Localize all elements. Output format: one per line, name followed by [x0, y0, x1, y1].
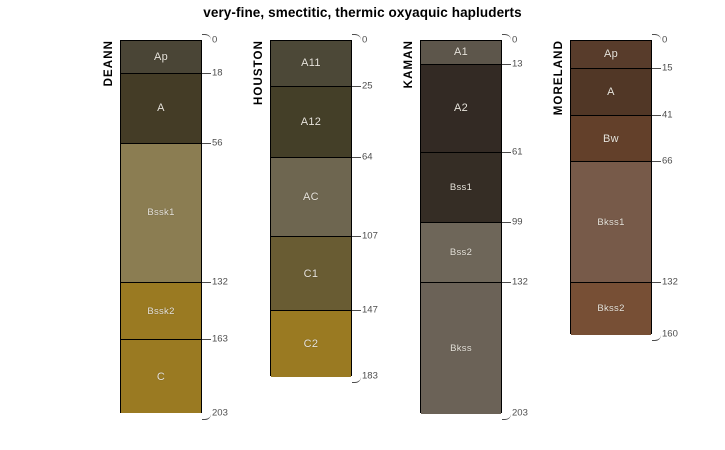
depth-tick-label: 0 [212, 35, 217, 46]
depth-tick-label: 25 [362, 80, 373, 91]
horizon-label: Bssk1 [147, 207, 174, 218]
horizon-label: C1 [304, 268, 319, 280]
depth-tick [502, 222, 511, 223]
pedon-name-label: MORELAND [553, 40, 565, 115]
horizon-label: Ap [154, 51, 168, 63]
horizon-label: Bw [603, 133, 619, 145]
depth-tick [652, 334, 661, 341]
depth-tick [202, 143, 211, 144]
depth-tick-label: 0 [662, 35, 667, 46]
horizon-label: A [157, 102, 165, 114]
depth-tick-label: 203 [512, 407, 528, 418]
horizon-block[interactable]: A [571, 69, 651, 117]
depth-tick-label: 107 [362, 231, 378, 242]
depth-tick [502, 282, 511, 283]
depth-tick-label: 183 [362, 370, 378, 381]
depth-tick [502, 64, 511, 65]
depth-tick [352, 376, 361, 383]
pedon-name-label: DEANN [103, 40, 115, 86]
horizon-label: Bss1 [450, 182, 472, 193]
depth-tick [652, 68, 661, 69]
depth-tick-label: 15 [662, 62, 673, 73]
depth-tick-label: 147 [362, 304, 378, 315]
horizon-block[interactable]: A11 [271, 41, 351, 87]
depth-tick-label: 0 [512, 35, 517, 46]
horizon-label: AC [303, 191, 319, 203]
horizon-column: A11A12ACC1C2 [270, 40, 352, 376]
depth-tick-label: 13 [512, 58, 523, 69]
horizon-block[interactable]: Bkss [421, 283, 501, 413]
horizon-block[interactable]: C [121, 340, 201, 413]
horizon-block[interactable]: A12 [271, 87, 351, 159]
horizon-label: C2 [304, 338, 319, 350]
horizon-label: Bss2 [450, 247, 472, 258]
depth-tick [502, 413, 511, 420]
depth-tick [352, 157, 361, 158]
depth-tick [202, 413, 211, 420]
depth-tick [502, 34, 511, 41]
horizon-label: A11 [301, 57, 321, 69]
horizon-block[interactable]: C2 [271, 311, 351, 377]
horizon-block[interactable]: Ap [121, 41, 201, 74]
soil-profile-plot: very-fine, smectitic, thermic oxyaquic h… [0, 0, 725, 450]
depth-tick-label: 160 [662, 328, 678, 339]
horizon-column: A1A2Bss1Bss2Bkss [420, 40, 502, 413]
horizon-block[interactable]: Bw [571, 116, 651, 162]
depth-tick [652, 282, 661, 283]
depth-tick [202, 282, 211, 283]
depth-tick-label: 18 [212, 68, 223, 79]
horizon-label: A1 [454, 46, 468, 58]
depth-tick-label: 203 [212, 407, 228, 418]
horizon-label: C [157, 371, 165, 383]
depth-tick [652, 161, 661, 162]
depth-tick-label: 64 [362, 152, 373, 163]
depth-axis: 0154166132160 [652, 0, 712, 450]
horizon-block[interactable]: C1 [271, 237, 351, 310]
depth-tick [352, 236, 361, 237]
depth-tick [202, 339, 211, 340]
depth-tick [652, 34, 661, 41]
depth-tick-label: 56 [212, 137, 223, 148]
horizon-column: ApABssk1Bssk2C [120, 40, 202, 413]
horizon-block[interactable]: A1 [421, 41, 501, 65]
pedon-name-label: KAMAN [403, 40, 415, 88]
depth-tick-label: 61 [512, 146, 523, 157]
horizon-block[interactable]: Bssk2 [121, 283, 201, 340]
horizon-block[interactable]: Ap [571, 41, 651, 69]
horizon-block[interactable]: Bss1 [421, 153, 501, 223]
depth-tick-label: 132 [212, 277, 228, 288]
horizon-column: ApABwBkss1Bkss2 [570, 40, 652, 334]
horizon-block[interactable]: Bkss2 [571, 283, 651, 334]
horizon-label: A [607, 86, 615, 98]
horizon-label: A12 [301, 116, 321, 128]
depth-tick [502, 152, 511, 153]
depth-tick-label: 132 [512, 277, 528, 288]
depth-tick [352, 86, 361, 87]
horizon-block[interactable]: AC [271, 158, 351, 237]
horizon-label: Bkss1 [597, 217, 624, 228]
horizon-block[interactable]: Bss2 [421, 223, 501, 284]
depth-tick-label: 163 [212, 334, 228, 345]
horizon-block[interactable]: A [121, 74, 201, 144]
depth-tick [202, 73, 211, 74]
horizon-label: Bkss [450, 343, 472, 354]
depth-tick-label: 0 [362, 35, 367, 46]
pedon-name-label: HOUSTON [253, 40, 265, 105]
horizon-label: Ap [604, 48, 618, 60]
horizon-block[interactable]: Bssk1 [121, 144, 201, 283]
depth-tick [202, 34, 211, 41]
horizon-label: Bkss2 [597, 303, 624, 314]
horizon-label: A2 [454, 102, 468, 114]
depth-tick-label: 41 [662, 110, 673, 121]
depth-tick [352, 34, 361, 41]
depth-tick-label: 66 [662, 156, 673, 167]
horizon-block[interactable]: A2 [421, 65, 501, 153]
depth-tick [652, 115, 661, 116]
depth-tick-label: 99 [512, 216, 523, 227]
depth-tick [352, 310, 361, 311]
horizon-block[interactable]: Bkss1 [571, 162, 651, 283]
depth-tick-label: 132 [662, 277, 678, 288]
horizon-label: Bssk2 [147, 306, 174, 317]
